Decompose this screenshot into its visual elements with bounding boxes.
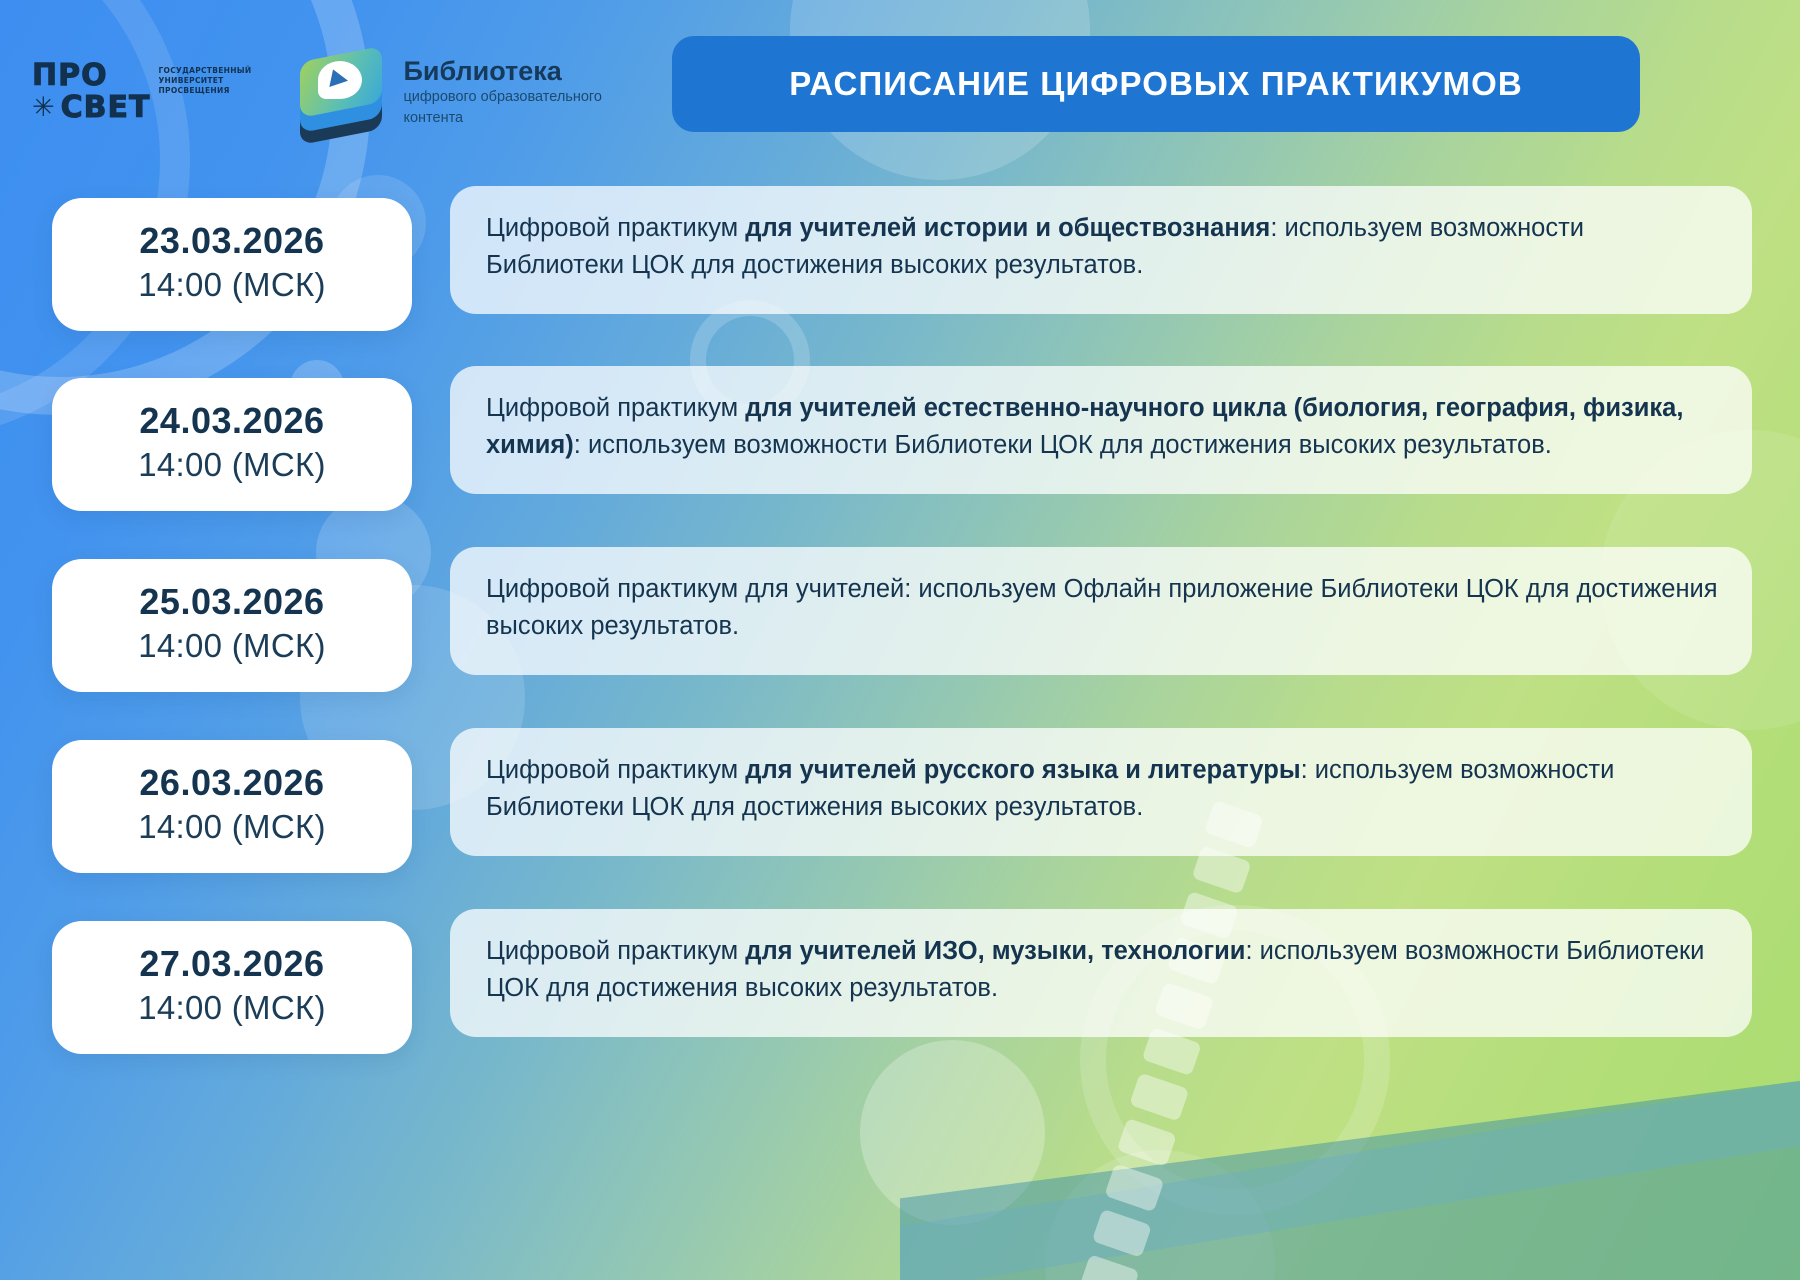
event-description: Цифровой практикум для учителей: использ… [486,571,1718,644]
date-card: 24.03.202614:00 (МСК) [52,378,412,511]
prosvet-subtitle: ГОСУДАРСТВЕННЫЙ УНИВЕРСИТЕТ ПРОСВЕЩЕНИЯ [158,66,251,96]
title-banner: РАСПИСАНИЕ ЦИФРОВЫХ ПРАКТИКУМОВ [672,36,1640,132]
description-text: : используем возможности Библиотеки ЦОК … [574,431,1552,459]
event-date: 23.03.2026 [62,220,402,261]
header: ПРО ✳ СВЕТ ГОСУДАРСТВЕННЫЙ УНИВЕРСИТЕТ П… [0,0,1800,150]
prosvet-subtitle-line2: УНИВЕРСИТЕТ [158,76,251,86]
event-description-card: Цифровой практикум для учителей естестве… [450,366,1752,494]
event-date: 25.03.2026 [62,581,402,622]
event-time: 14:00 (МСК) [62,265,402,305]
dash-segment [1129,1072,1189,1121]
schedule-row: 23.03.202614:00 (МСК)Цифровой практикум … [52,186,1752,331]
event-time: 14:00 (МСК) [62,626,402,666]
prosvet-logo: ПРО ✳ СВЕТ ГОСУДАРСТВЕННЫЙ УНИВЕРСИТЕТ П… [32,62,251,122]
description-text: Цифровой практикум для учителей: использ… [486,575,1718,640]
description-emphasis: для учителей истории и обществознания [745,214,1270,242]
schedule-row: 24.03.202614:00 (МСК)Цифровой практикум … [52,366,1752,511]
library-stacked-layers-icon [295,50,387,134]
dash-segment [1092,1209,1152,1258]
page-title: РАСПИСАНИЕ ЦИФРОВЫХ ПРАКТИКУМОВ [789,65,1523,103]
description-text: Цифровой практикум [486,756,745,784]
poster-canvas: ПРО ✳ СВЕТ ГОСУДАРСТВЕННЫЙ УНИВЕРСИТЕТ П… [0,0,1800,1280]
event-description: Цифровой практикум для учителей истории … [486,210,1718,283]
event-description: Цифровой практикум для учителей естестве… [486,390,1718,463]
description-text: Цифровой практикум [486,214,745,242]
prosvet-row-top: ПРО [32,62,150,91]
schedule-row: 27.03.202614:00 (МСК)Цифровой практикум … [52,909,1752,1054]
prosvet-subtitle-line3: ПРОСВЕЩЕНИЯ [158,86,251,96]
prosvet-row-bottom: ✳ СВЕТ [32,94,150,123]
dash-segment [1104,1163,1164,1212]
description-emphasis: для учителей ИЗО, музыки, технологии [745,937,1245,965]
decorative-circle-bottom-2 [1045,1150,1275,1280]
library-logo-text: Библиотека цифрового образовательного ко… [403,57,601,128]
prosvet-word-pro: ПРО [32,62,108,91]
schedule-row: 25.03.202614:00 (МСК)Цифровой практикум … [52,547,1752,692]
event-description-card: Цифровой практикум для учителей ИЗО, муз… [450,909,1752,1037]
library-subtitle-line2: контента [403,109,601,128]
description-text: Цифровой практикум [486,394,745,422]
event-time: 14:00 (МСК) [62,807,402,847]
event-date: 24.03.2026 [62,400,402,441]
dash-segment [1079,1254,1139,1280]
library-subtitle-line1: цифрового образовательного [403,88,601,107]
logo-group: ПРО ✳ СВЕТ ГОСУДАРСТВЕННЫЙ УНИВЕРСИТЕТ П… [32,50,602,134]
decorative-circle-bottom [860,1040,1045,1225]
date-card: 27.03.202614:00 (МСК) [52,921,412,1054]
event-description: Цифровой практикум для учителей русского… [486,752,1718,825]
event-date: 26.03.2026 [62,762,402,803]
event-description: Цифровой практикум для учителей ИЗО, муз… [486,933,1718,1006]
event-description-card: Цифровой практикум для учителей истории … [450,186,1752,314]
event-description-card: Цифровой практикум для учителей: использ… [450,547,1752,675]
description-text: Цифровой практикум [486,937,745,965]
event-description-card: Цифровой практикум для учителей русского… [450,728,1752,856]
asterisk-icon: ✳ [32,94,55,121]
prosvet-word-svet: СВЕТ [61,94,151,123]
prosvet-wordmark: ПРО ✳ СВЕТ [32,62,150,122]
prosvet-subtitle-line1: ГОСУДАРСТВЕННЫЙ [158,66,251,76]
date-card: 23.03.202614:00 (МСК) [52,198,412,331]
date-card: 26.03.202614:00 (МСК) [52,740,412,873]
event-date: 27.03.2026 [62,943,402,984]
description-emphasis: для учителей русского языка и литературы [745,756,1300,784]
dash-segment [1117,1118,1177,1167]
library-logo: Библиотека цифрового образовательного ко… [295,50,601,134]
library-title: Библиотека [403,57,601,87]
event-time: 14:00 (МСК) [62,988,402,1028]
date-card: 25.03.202614:00 (МСК) [52,559,412,692]
schedule-row: 26.03.202614:00 (МСК)Цифровой практикум … [52,728,1752,873]
event-time: 14:00 (МСК) [62,445,402,485]
